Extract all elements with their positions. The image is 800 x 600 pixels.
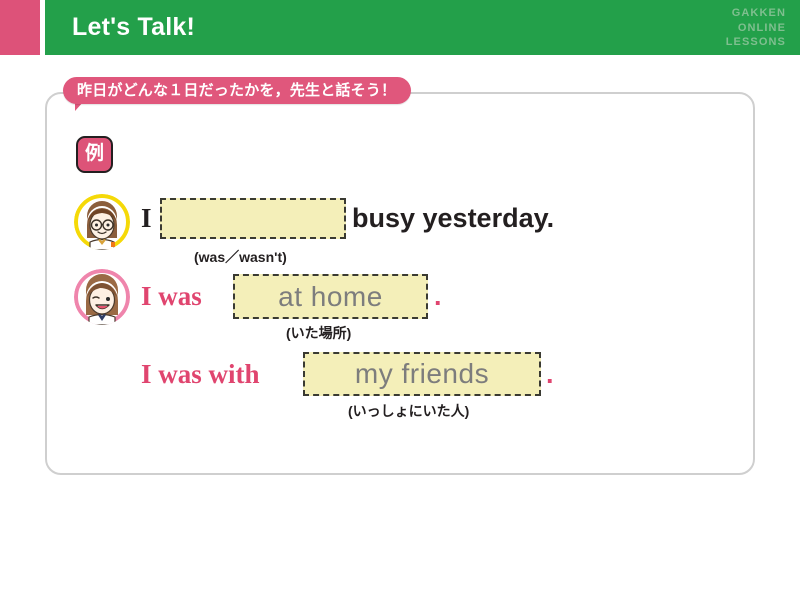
line-2-lead-text: I was [141, 281, 202, 311]
instruction-tab: 昨日がどんな１日だったかを，先生と話そう！ [63, 77, 411, 104]
line-3-lead-text: I was with [141, 359, 260, 389]
gakken-online-lessons-logo: GAKKEN ONLINE LESSONS [726, 6, 786, 50]
line-3-hint: (いっしょにいた人) [348, 401, 469, 421]
line-1-hint: (was／wasn't) [194, 247, 287, 267]
line-2-lead: I was [141, 276, 202, 316]
page-title: Let's Talk! [72, 11, 195, 43]
header-pink-accent [0, 0, 40, 55]
brand-line-3: LESSONS [726, 35, 786, 50]
student-avatar-icon [74, 269, 130, 325]
teacher-avatar-icon [74, 194, 130, 250]
line-1-blank-input[interactable] [160, 198, 346, 239]
example-badge: 例 [76, 136, 113, 173]
page-header: Let's Talk! GAKKEN ONLINE LESSONS [0, 0, 800, 55]
line-2-trail: . [434, 276, 442, 316]
line-1-lead: I [141, 198, 152, 238]
line-3-trail: . [546, 354, 554, 394]
line-3-blank-input[interactable]: my friends [303, 352, 541, 396]
line-3-lead: I was with [141, 354, 260, 394]
line-2-blank-input[interactable]: at home [233, 274, 428, 319]
line-1-trail: busy yesterday. [352, 198, 554, 238]
brand-line-2: ONLINE [726, 21, 786, 36]
brand-line-1: GAKKEN [726, 6, 786, 21]
line-2-hint: (いた場所) [286, 323, 351, 343]
